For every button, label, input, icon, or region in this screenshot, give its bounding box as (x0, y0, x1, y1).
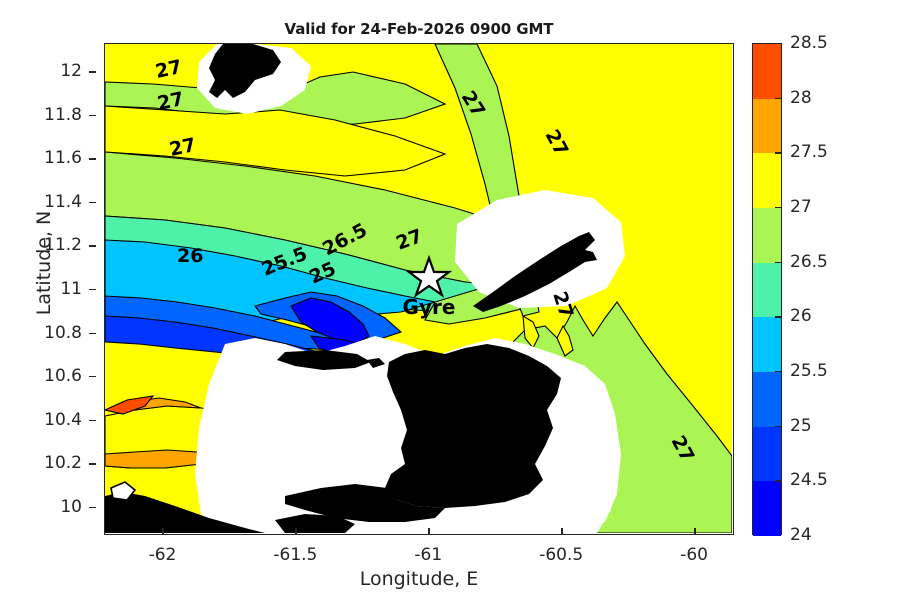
colorbar-tick-mark (775, 316, 782, 317)
x-tick-label: -61 (414, 545, 442, 565)
page-title: Valid for 24-Feb-2026 0900 GMT (104, 20, 734, 38)
colorbar-tick-mark (775, 480, 782, 481)
y-tick-label: 10.4 (44, 410, 82, 430)
y-tick-mark (89, 115, 96, 116)
y-tick-mark (89, 463, 96, 464)
y-tick-label: 10.2 (44, 453, 82, 473)
y-tick-mark (89, 420, 96, 421)
colorbar-tick-mark (775, 152, 782, 153)
x-tick-label: -62 (149, 545, 177, 565)
y-tick-mark (89, 158, 96, 159)
gyre-label: Gyre (403, 295, 456, 319)
sst-contour-map[interactable]: 27 27 27 27 27 26 25.5 26.5 25 27 27 27 … (104, 43, 734, 535)
x-tick-mark (428, 528, 429, 535)
colorbar-tick-label: 24 (752, 525, 812, 545)
y-tick-mark (89, 333, 96, 334)
colorbar-tick-mark (775, 207, 782, 208)
y-tick-label: 12 (60, 61, 82, 81)
y-tick-mark (89, 289, 96, 290)
x-tick-mark (694, 528, 695, 535)
x-tick-mark (295, 528, 296, 535)
map-svg: 27 27 27 27 27 26 25.5 26.5 25 27 27 27 … (105, 44, 732, 533)
colorbar-tick-label: 24.5 (752, 470, 828, 490)
x-tick-mark (162, 528, 163, 535)
colorbar-tick-label: 25.5 (752, 361, 828, 381)
x-tick-label: -61.5 (273, 545, 317, 565)
colorbar-tick-label: 26.5 (752, 252, 828, 272)
x-tick-mark (561, 528, 562, 535)
y-tick-label: 11 (60, 279, 82, 299)
y-tick-mark (89, 71, 96, 72)
y-tick-mark (89, 507, 96, 508)
y-tick-mark (89, 245, 96, 246)
x-axis-label: Longitude, E (104, 568, 734, 590)
colorbar[interactable] (752, 43, 782, 535)
colorbar-tick-mark (775, 262, 782, 263)
y-tick-label: 10 (60, 497, 82, 517)
x-tick-label: -60.5 (539, 545, 583, 565)
y-tick-mark (89, 202, 96, 203)
colorbar-tick-label: 28.5 (752, 33, 828, 53)
x-tick-label: -60 (680, 545, 708, 565)
y-axis-label: Latitude, N (33, 123, 55, 403)
colorbar-tick-mark (775, 98, 782, 99)
y-tick-mark (89, 376, 96, 377)
colorbar-tick-mark (775, 426, 782, 427)
colorbar-tick-label: 27.5 (752, 142, 828, 162)
colorbar-tick-mark (775, 371, 782, 372)
y-tick-label: 11.8 (44, 105, 82, 125)
svg-text:26: 26 (177, 245, 203, 267)
